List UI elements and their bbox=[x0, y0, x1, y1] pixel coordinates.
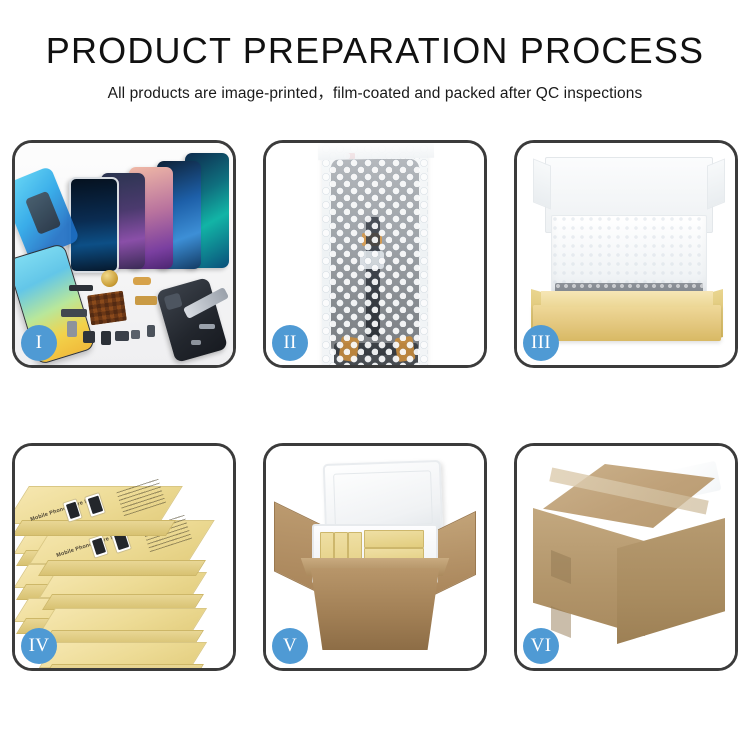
part-sensor-icon bbox=[147, 325, 155, 337]
bubble-bag-group bbox=[322, 145, 428, 365]
part-bracket-icon bbox=[61, 309, 87, 317]
page-title: PRODUCT PREPARATION PROCESS bbox=[0, 0, 750, 70]
step-badge-1: I bbox=[21, 325, 57, 361]
step-panel-4[interactable]: Mobile Phone Spare Parts Mobile Phone Sp… bbox=[12, 443, 236, 671]
box-side bbox=[38, 560, 206, 576]
steps-grid: I bbox=[12, 140, 738, 671]
product-preparation-infographic: PRODUCT PREPARATION PROCESS All products… bbox=[0, 0, 750, 750]
step-badge-6: VI bbox=[523, 628, 559, 664]
part-screw-b-icon bbox=[191, 340, 201, 345]
step-panel-6[interactable]: VI bbox=[514, 443, 738, 671]
steps-row-2: Mobile Phone Spare Parts Mobile Phone Sp… bbox=[12, 443, 738, 671]
part-battery-icon bbox=[69, 285, 93, 291]
kraft-tray-body bbox=[533, 305, 721, 341]
part-screw-a-icon bbox=[199, 324, 215, 329]
carton-body bbox=[302, 568, 448, 650]
part-sim-tray-icon bbox=[67, 321, 77, 337]
carton-side-face bbox=[617, 518, 725, 644]
stacked-box-right-3 bbox=[47, 642, 197, 666]
box-side bbox=[42, 664, 204, 668]
speaker-coin-icon bbox=[101, 270, 118, 287]
phone-device-1-icon bbox=[69, 177, 119, 273]
header: PRODUCT PREPARATION PROCESS All products… bbox=[0, 0, 750, 103]
page-subtitle: All products are image-printed，film-coat… bbox=[0, 70, 750, 103]
part-camera-icon bbox=[83, 331, 95, 343]
step-badge-4: IV bbox=[21, 628, 57, 664]
chip-grid-icon bbox=[87, 291, 127, 326]
bag-seal-top bbox=[318, 143, 434, 160]
box-side bbox=[15, 520, 176, 536]
part-flexcable-b-icon bbox=[135, 296, 157, 305]
part-button-icon bbox=[131, 330, 140, 339]
part-flexcable-a-icon bbox=[133, 277, 151, 285]
steps-row-1: I bbox=[12, 140, 738, 368]
phone-fan-group bbox=[51, 151, 231, 276]
step-badge-5: V bbox=[272, 628, 308, 664]
stacked-box-right-2 bbox=[47, 608, 197, 632]
step-badge-3: III bbox=[523, 325, 559, 361]
open-carton-group bbox=[290, 462, 462, 652]
sealed-carton-group bbox=[533, 464, 725, 650]
inner-yellow-box-4 bbox=[364, 530, 424, 548]
step-panel-1[interactable]: I bbox=[12, 140, 236, 368]
step-badge-2: II bbox=[272, 325, 308, 361]
step-panel-5[interactable]: V bbox=[263, 443, 487, 671]
step-panel-3[interactable]: III bbox=[514, 140, 738, 368]
tray-box-group bbox=[531, 157, 723, 347]
part-connector-icon bbox=[101, 331, 111, 345]
bubble-wrap-highlight bbox=[322, 145, 428, 365]
step-panel-2[interactable]: II bbox=[263, 140, 487, 368]
part-module-icon bbox=[115, 331, 129, 341]
